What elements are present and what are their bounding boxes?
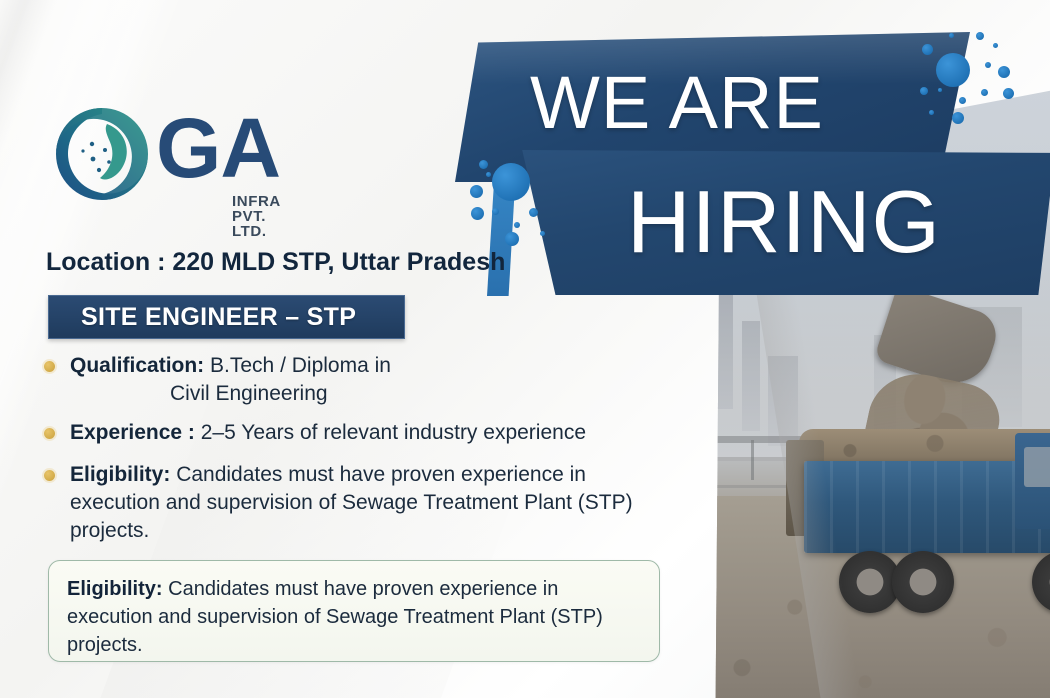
swirl-circle-logo-icon <box>52 104 152 204</box>
role-badge: SITE ENGINEER – STP <box>48 295 405 339</box>
truck-wheel <box>892 551 954 613</box>
role-badge-label: SITE ENGINEER – STP <box>49 305 356 330</box>
eligibility-callout-box: Eligibility: Candidates must have proven… <box>48 560 660 662</box>
logo-tagline: INFRA PVT. LTD. <box>232 194 280 239</box>
eligibility-callout-text: Eligibility: Candidates must have proven… <box>49 561 659 659</box>
eligibility-callout-label: Eligibility: <box>67 578 163 600</box>
logo-wordmark: GA <box>156 106 280 190</box>
requirement-value-line2: Civil Engineering <box>70 380 669 408</box>
banner-text-hiring: HIRING <box>627 178 941 266</box>
dot-bullet-gold-icon <box>44 428 55 439</box>
dump-truck-bed <box>804 461 1050 553</box>
location-line: Location : 220 MLD STP, Uttar Pradesh <box>46 247 505 277</box>
list-item: Qualification: B.Tech / Diploma in Civil… <box>44 352 669 408</box>
dump-truck-window <box>1024 447 1050 487</box>
list-item: Eligibility: Candidates must have proven… <box>44 461 669 545</box>
requirement-label: Experience : <box>70 421 195 444</box>
requirements-list: Qualification: B.Tech / Diploma in Civil… <box>44 352 669 556</box>
photo-fence-post <box>751 440 754 480</box>
requirement-label: Eligibility: <box>70 463 170 486</box>
requirement-label: Qualification: <box>70 354 204 377</box>
list-item: Experience : 2–5 Years of relevant indus… <box>44 419 669 447</box>
requirement-value: B.Tech / Diploma in <box>210 354 391 377</box>
banner-text-we-are: WE ARE <box>530 66 824 140</box>
requirement-value: 2–5 Years of relevant industry experienc… <box>201 421 586 444</box>
dot-bullet-gold-icon <box>44 361 55 372</box>
photo-fence-post <box>698 440 701 480</box>
dot-bullet-gold-icon <box>44 470 55 481</box>
hiring-poster: 545 WE ARE HIRING <box>0 0 1050 698</box>
